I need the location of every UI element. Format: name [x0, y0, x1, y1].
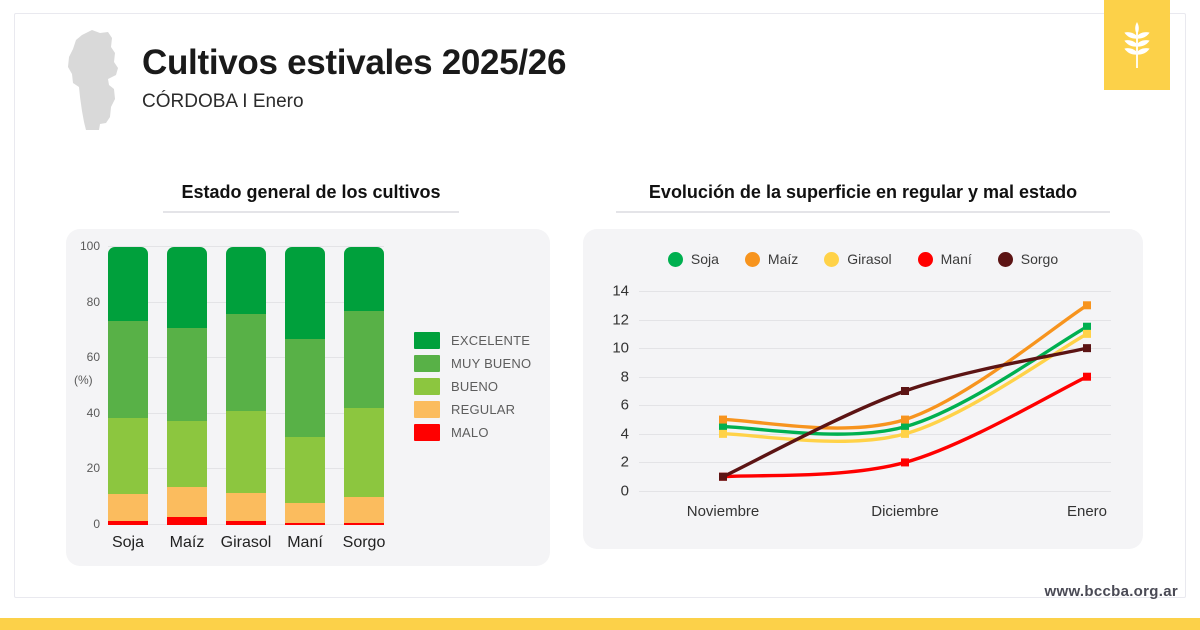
data-point-sorgo[interactable] — [1083, 344, 1091, 352]
left-chart-legend: EXCELENTEMUY BUENOBUENOREGULARMALO — [414, 329, 531, 444]
legend-label: Soja — [691, 251, 719, 267]
legend-label: BUENO — [451, 379, 498, 394]
left-title-rule — [163, 211, 459, 213]
bar-segment-bueno — [167, 421, 207, 488]
data-point-girasol[interactable] — [1083, 330, 1091, 338]
bar-segment-bueno — [285, 437, 325, 502]
y-axis-tick: 0 — [621, 483, 629, 500]
data-point-soja[interactable] — [901, 423, 909, 431]
y-axis-tick: 12 — [612, 311, 629, 328]
y-axis-tick: 2 — [621, 454, 629, 471]
legend-swatch — [414, 332, 440, 349]
footer-url[interactable]: www.bccba.org.ar — [1045, 583, 1178, 600]
bar-segment-excelente — [226, 247, 266, 314]
legend-item[interactable]: MUY BUENO — [414, 352, 531, 375]
data-point-maíz[interactable] — [901, 416, 909, 424]
y-axis-tick: 14 — [612, 283, 629, 300]
title-block: Cultivos estivales 2025/26 CÓRDOBA I Ene… — [142, 44, 566, 113]
y-axis-tick: 8 — [621, 368, 629, 385]
y-axis-tick: 100 — [80, 239, 100, 253]
line-plot-area: 02468101214NoviembreDiciembreEnero — [639, 291, 1111, 491]
x-axis-tick: Sorgo — [343, 534, 386, 552]
y-axis-tick: 6 — [621, 397, 629, 414]
x-axis-tick: Diciembre — [871, 503, 939, 520]
stacked-bar[interactable]: Girasol — [226, 247, 266, 525]
line-series-svg — [639, 291, 1111, 491]
bar-segment-regular — [344, 497, 384, 523]
legend-item[interactable]: BUENO — [414, 375, 531, 398]
bar-segment-regular — [108, 494, 148, 520]
stacked-bar[interactable]: Sorgo — [344, 247, 384, 525]
left-chart-title: Estado general de los cultivos — [66, 182, 556, 203]
legend-item[interactable]: Girasol — [824, 251, 891, 267]
bar-segment-malo — [285, 523, 325, 525]
x-axis-tick: Noviembre — [687, 503, 760, 520]
legend-label: MALO — [451, 425, 489, 440]
bar-segment-muy-bueno — [344, 311, 384, 408]
footer-accent-bar — [0, 618, 1200, 630]
legend-label: EXCELENTE — [451, 333, 530, 348]
legend-dot — [918, 252, 933, 267]
bar-segment-malo — [226, 521, 266, 525]
x-axis-tick: Enero — [1067, 503, 1107, 520]
bar-segment-regular — [226, 493, 266, 521]
header: Cultivos estivales 2025/26 CÓRDOBA I Ene… — [0, 0, 1200, 150]
y-axis-tick: 0 — [93, 517, 100, 531]
legend-swatch — [414, 401, 440, 418]
legend-label: Maní — [941, 251, 972, 267]
legend-label: MUY BUENO — [451, 356, 531, 371]
page-subtitle: CÓRDOBA I Enero — [142, 91, 566, 113]
legend-label: Maíz — [768, 251, 798, 267]
bar-segment-excelente — [108, 247, 148, 321]
data-point-sorgo[interactable] — [719, 473, 727, 481]
legend-dot — [824, 252, 839, 267]
y-axis-tick: 20 — [87, 461, 100, 475]
data-point-soja[interactable] — [1083, 323, 1091, 331]
legend-swatch — [414, 355, 440, 372]
right-plot-area: SojaMaízGirasolManíSorgo 02468101214Novi… — [583, 229, 1143, 549]
legend-label: Girasol — [847, 251, 891, 267]
bar-segment-muy-bueno — [285, 339, 325, 438]
x-axis-tick: Soja — [112, 534, 144, 552]
legend-item[interactable]: Maní — [918, 251, 972, 267]
x-axis-tick: Maní — [287, 534, 323, 552]
stacked-bar[interactable]: Soja — [108, 247, 148, 525]
y-axis-tick: 4 — [621, 425, 629, 442]
left-y-axis-label: (%) — [74, 373, 93, 387]
right-chart-panel: Evolución de la superficie en regular y … — [583, 182, 1143, 549]
logo-badge — [1104, 0, 1170, 90]
bar-segment-muy-bueno — [226, 314, 266, 411]
legend-dot — [668, 252, 683, 267]
right-title-rule — [616, 211, 1110, 213]
data-point-maní[interactable] — [901, 458, 909, 466]
bar-segment-bueno — [108, 418, 148, 494]
data-point-sorgo[interactable] — [901, 387, 909, 395]
data-point-soja[interactable] — [719, 423, 727, 431]
legend-swatch — [414, 424, 440, 441]
data-point-maní[interactable] — [1083, 373, 1091, 381]
legend-dot — [998, 252, 1013, 267]
bar-segment-muy-bueno — [108, 321, 148, 418]
bar-segment-bueno — [344, 408, 384, 497]
bar-segment-malo — [108, 521, 148, 525]
legend-label: Sorgo — [1021, 251, 1058, 267]
stacked-bars-area: 020406080100SojaMaízGirasolManíSorgo — [108, 247, 384, 525]
bar-segment-regular — [167, 487, 207, 516]
legend-item[interactable]: REGULAR — [414, 398, 531, 421]
page-title: Cultivos estivales 2025/26 — [142, 44, 566, 83]
data-point-maíz[interactable] — [719, 416, 727, 424]
y-axis-tick: 10 — [612, 340, 629, 357]
wheat-stalk-icon — [1124, 22, 1150, 68]
right-chart-title: Evolución de la superficie en regular y … — [583, 182, 1143, 203]
bar-segment-excelente — [167, 247, 207, 328]
data-point-girasol[interactable] — [901, 430, 909, 438]
gridline: 0 — [639, 491, 1111, 492]
bar-segment-malo — [167, 517, 207, 525]
cordoba-province-map-icon — [62, 27, 124, 137]
y-axis-tick: 80 — [87, 295, 100, 309]
y-axis-tick: 60 — [87, 350, 100, 364]
bar-segment-muy-bueno — [167, 328, 207, 421]
stacked-bar[interactable]: Maní — [285, 247, 325, 525]
bar-segment-regular — [285, 503, 325, 523]
left-plot-area: (%) 020406080100SojaMaízGirasolManíSorgo… — [66, 229, 550, 566]
left-chart-panel: Estado general de los cultivos (%) 02040… — [66, 182, 556, 566]
data-point-maíz[interactable] — [1083, 301, 1091, 309]
bar-segment-malo — [344, 523, 384, 525]
legend-item[interactable]: Maíz — [745, 251, 798, 267]
legend-swatch — [414, 378, 440, 395]
legend-item[interactable]: MALO — [414, 421, 531, 444]
bar-segment-excelente — [285, 247, 325, 339]
legend-item[interactable]: EXCELENTE — [414, 329, 531, 352]
right-chart-legend: SojaMaízGirasolManíSorgo — [583, 251, 1143, 267]
data-point-girasol[interactable] — [719, 430, 727, 438]
bar-segment-bueno — [226, 411, 266, 493]
y-axis-tick: 40 — [87, 406, 100, 420]
infographic-page: Cultivos estivales 2025/26 CÓRDOBA I Ene… — [0, 0, 1200, 630]
legend-dot — [745, 252, 760, 267]
x-axis-tick: Girasol — [221, 534, 272, 552]
legend-item[interactable]: Soja — [668, 251, 719, 267]
legend-label: REGULAR — [451, 402, 515, 417]
legend-item[interactable]: Sorgo — [998, 251, 1058, 267]
stacked-bar[interactable]: Maíz — [167, 247, 207, 525]
x-axis-tick: Maíz — [170, 534, 205, 552]
bar-segment-excelente — [344, 247, 384, 311]
